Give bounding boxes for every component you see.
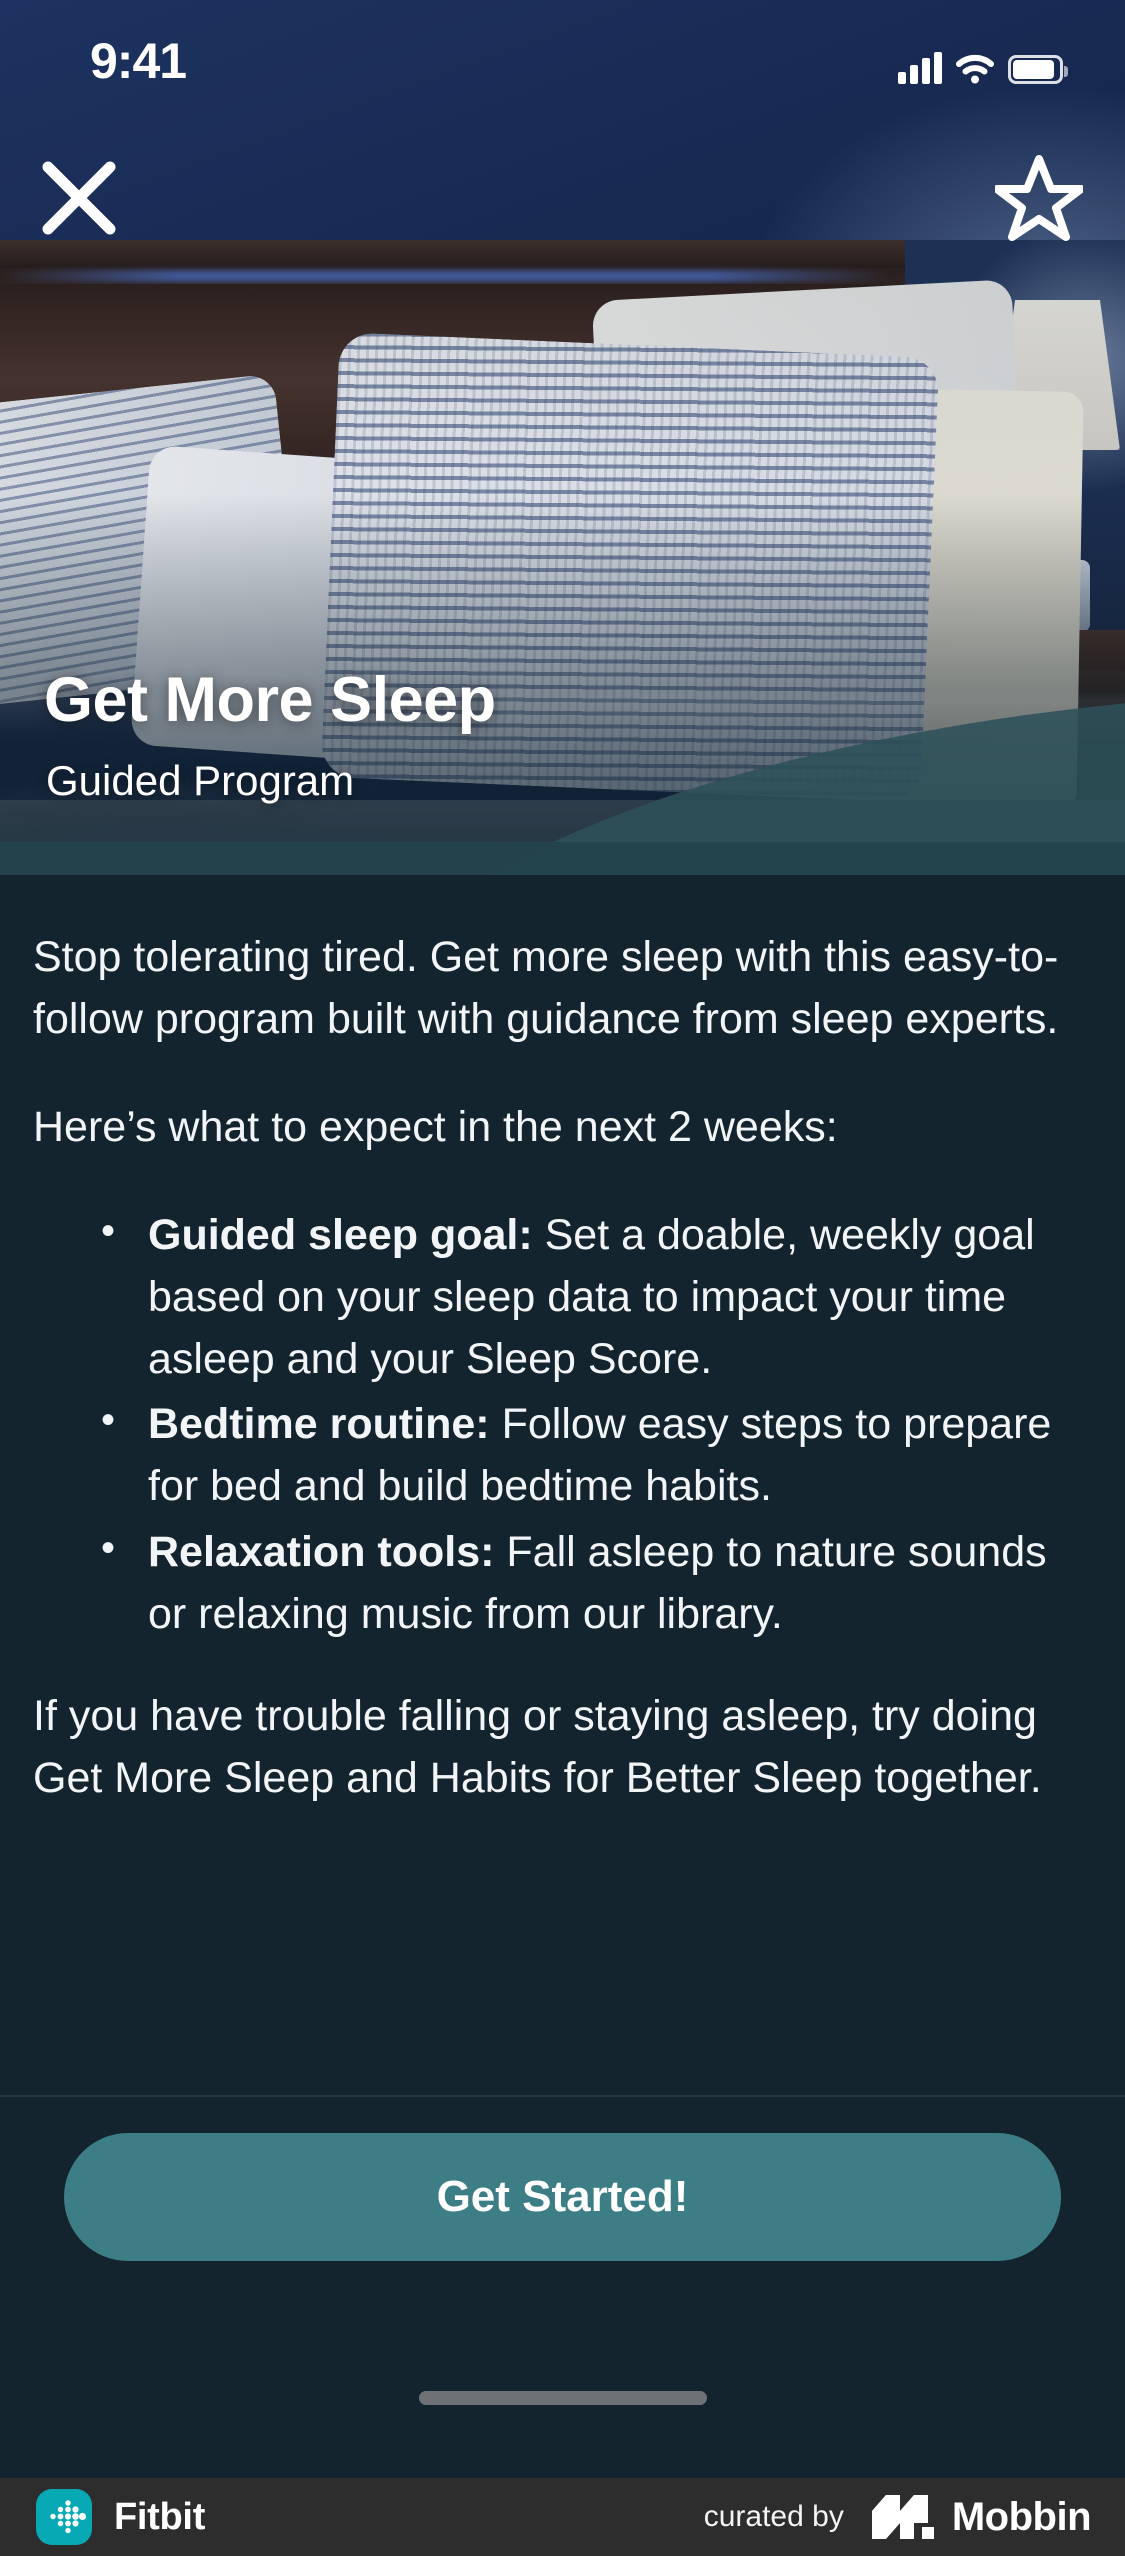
status-bar-clock: 9:41 <box>90 32 186 90</box>
get-started-button[interactable]: Get Started! <box>64 2133 1061 2261</box>
expect-heading: Here’s what to expect in the next 2 week… <box>33 1097 1093 1159</box>
status-bar-icons <box>898 44 1063 84</box>
description-scroll-area[interactable]: Stop tolerating tired. Get more sleep wi… <box>0 875 1125 2095</box>
mobbin-logo-icon <box>866 2493 936 2541</box>
phone-screen: Get More Sleep Guided Program 9:41 <box>0 0 1125 2556</box>
benefits-list: Guided sleep goal: Set a doable, weekly … <box>33 1205 1093 1646</box>
mobbin-brand-label: Mobbin <box>952 2495 1091 2540</box>
benefit-term: Bedtime routine: <box>148 1400 490 1448</box>
curated-by-label: curated by <box>704 2500 844 2534</box>
battery-icon <box>1008 55 1063 84</box>
list-item: Relaxation tools: Fall asleep to nature … <box>33 1522 1093 1646</box>
fitbit-logo-icon <box>36 2489 92 2545</box>
cellular-signal-icon <box>898 52 942 84</box>
list-item: Guided sleep goal: Set a doable, weekly … <box>33 1205 1093 1391</box>
outro-paragraph: If you have trouble falling or staying a… <box>33 1686 1093 1810</box>
mobbin-attribution-bar: Fitbit curated by Mobbin <box>0 2478 1125 2556</box>
intro-paragraph: Stop tolerating tired. Get more sleep wi… <box>33 927 1093 1051</box>
home-indicator[interactable] <box>419 2391 707 2405</box>
page-subtitle: Guided Program <box>46 757 354 805</box>
status-bar: 9:41 <box>0 0 1125 150</box>
app-name-label: Fitbit <box>114 2496 205 2539</box>
page-title: Get More Sleep <box>44 664 496 736</box>
favorite-button[interactable] <box>995 152 1083 242</box>
hero-curve-overlay-base <box>0 842 1125 875</box>
benefit-term: Guided sleep goal: <box>148 1211 533 1259</box>
list-item: Bedtime routine: Follow easy steps to pr… <box>33 1394 1093 1518</box>
close-button[interactable] <box>38 155 120 241</box>
wifi-icon <box>956 54 994 84</box>
benefit-term: Relaxation tools: <box>148 1528 494 1576</box>
